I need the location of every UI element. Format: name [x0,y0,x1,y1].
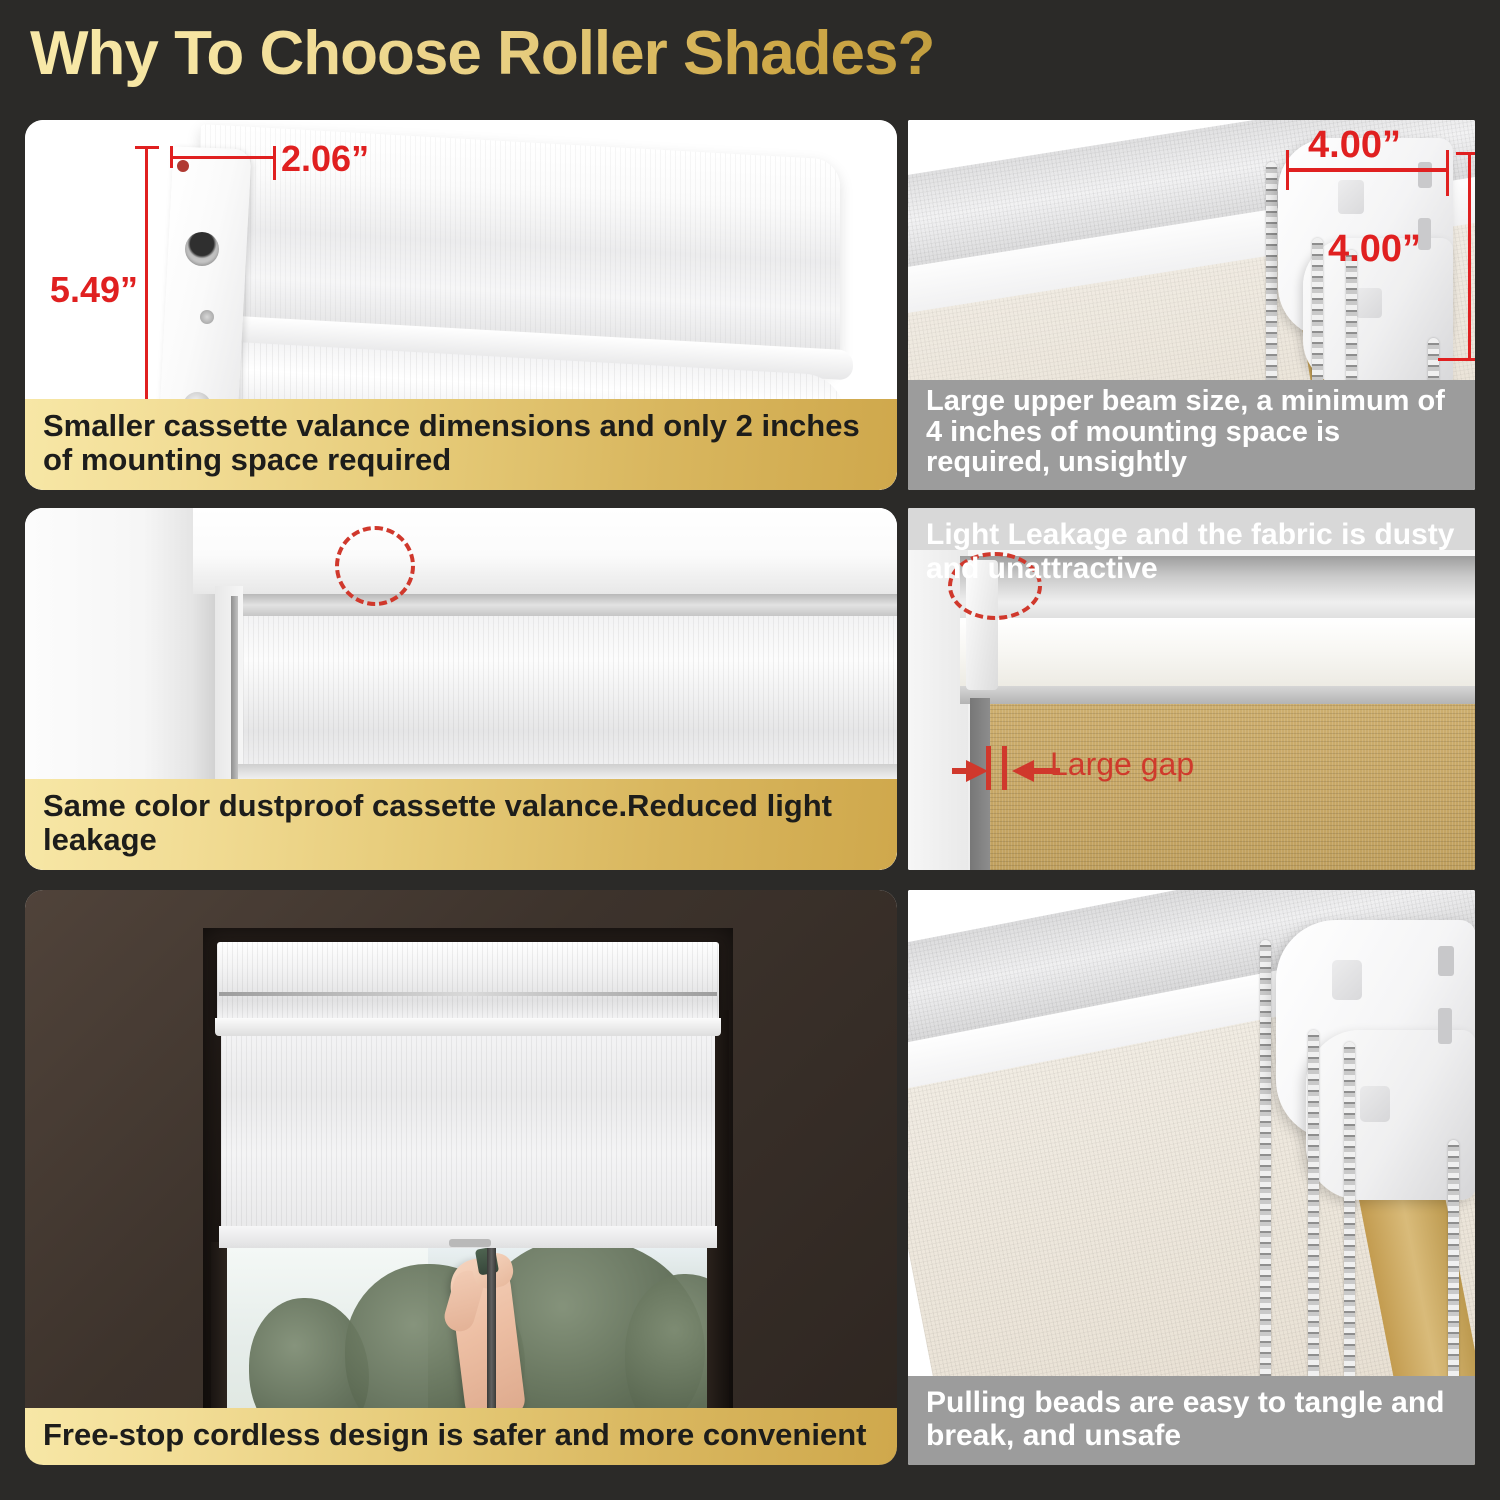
bottom-rail-handle [449,1239,491,1247]
window-glass [225,1248,709,1430]
width-tick-left [170,146,173,168]
height-dimension-label: 4.00” [1328,228,1421,271]
window-jamb-left [211,1242,227,1432]
gap-arrow-left-icon [1012,760,1034,782]
bracket-slot-icon [1438,1008,1452,1044]
bracket-emboss [1338,180,1364,214]
panel-dustproof-valance: smaller gap Same color dustproof cassett… [25,508,897,870]
height-dimension-label: 5.49” [50,269,138,311]
gap-measure-tick [1002,746,1007,790]
width-tick-left [1286,150,1289,190]
height-tick-bottom [1438,358,1475,361]
width-dimension-label: 4.00” [1308,124,1401,167]
width-tick-right [273,146,276,180]
measure-dot [177,160,189,172]
height-dimension-line [1468,152,1471,360]
valance-groove [219,992,717,996]
screw-icon [200,310,214,324]
panel-caption: Free-stop cordless design is safer and m… [25,1408,897,1465]
panel-cordless-design: Free-stop cordless design is safer and m… [25,890,897,1465]
dashed-highlight-circle-icon [335,526,415,606]
panel-pulling-beads: Pulling beads are easy to tangle and bre… [908,890,1475,1465]
bracket-slot-icon [1438,946,1454,976]
dusty-tan-fabric [990,704,1475,870]
window-mullion [487,1248,496,1430]
bead-chain [1308,1030,1319,1420]
upper-beam-edge [960,686,1475,704]
gap-measure-tick [986,746,991,790]
height-tick-top [135,146,159,149]
head-rail [243,594,897,616]
upper-beam-face [960,618,1475,690]
valance-bottom-rail [237,764,897,780]
window-frame-top [193,508,897,594]
height-tick-top [1456,152,1475,155]
bracket-emboss [1332,960,1362,1000]
panel-large-upper-beam: 4.00” 4.00” Large upper beam size, a min… [908,120,1475,490]
width-dimension-line [170,156,275,159]
width-dimension-line [1288,168,1448,172]
panel-smaller-cassette: 5.49” 2.06” Smaller cassette valance dim… [25,120,897,490]
panel-caption: Pulling beads are easy to tangle and bre… [908,1376,1475,1465]
cassette-valance [217,942,719,1024]
bracket-slot-icon [1418,162,1432,188]
panel-caption: Smaller cassette valance dimensions and … [25,399,897,490]
gap-label: Large gap [1050,746,1194,783]
page-title: Why To Choose Roller Shades? [30,18,934,89]
bracket-emboss [1356,288,1382,318]
bead-chain [1260,940,1271,1415]
shade-fabric [221,1036,715,1232]
panel-caption: Light Leakage and the fabric is dusty an… [908,508,1475,550]
gap-arrow-right-icon [966,760,988,782]
window-scene-photo [25,890,897,1465]
infographic-page: Why To Choose Roller Shades? 5.49” 2.06”… [0,0,1500,1500]
bead-chain [1344,1042,1355,1420]
valance-lip [215,1018,721,1036]
width-dimension-label: 2.06” [281,138,369,180]
cassette-valance [243,616,897,764]
width-tick-right [1446,150,1449,196]
mechanism-slot-icon [185,232,219,266]
panel-caption: Same color dustproof cassette valance.Re… [25,779,897,870]
bracket-emboss [1360,1086,1390,1122]
panel-light-leakage: Large gap Light Leakage and the fabric i… [908,508,1475,870]
panel-caption: Large upper beam size, a minimum of 4 in… [908,380,1475,490]
